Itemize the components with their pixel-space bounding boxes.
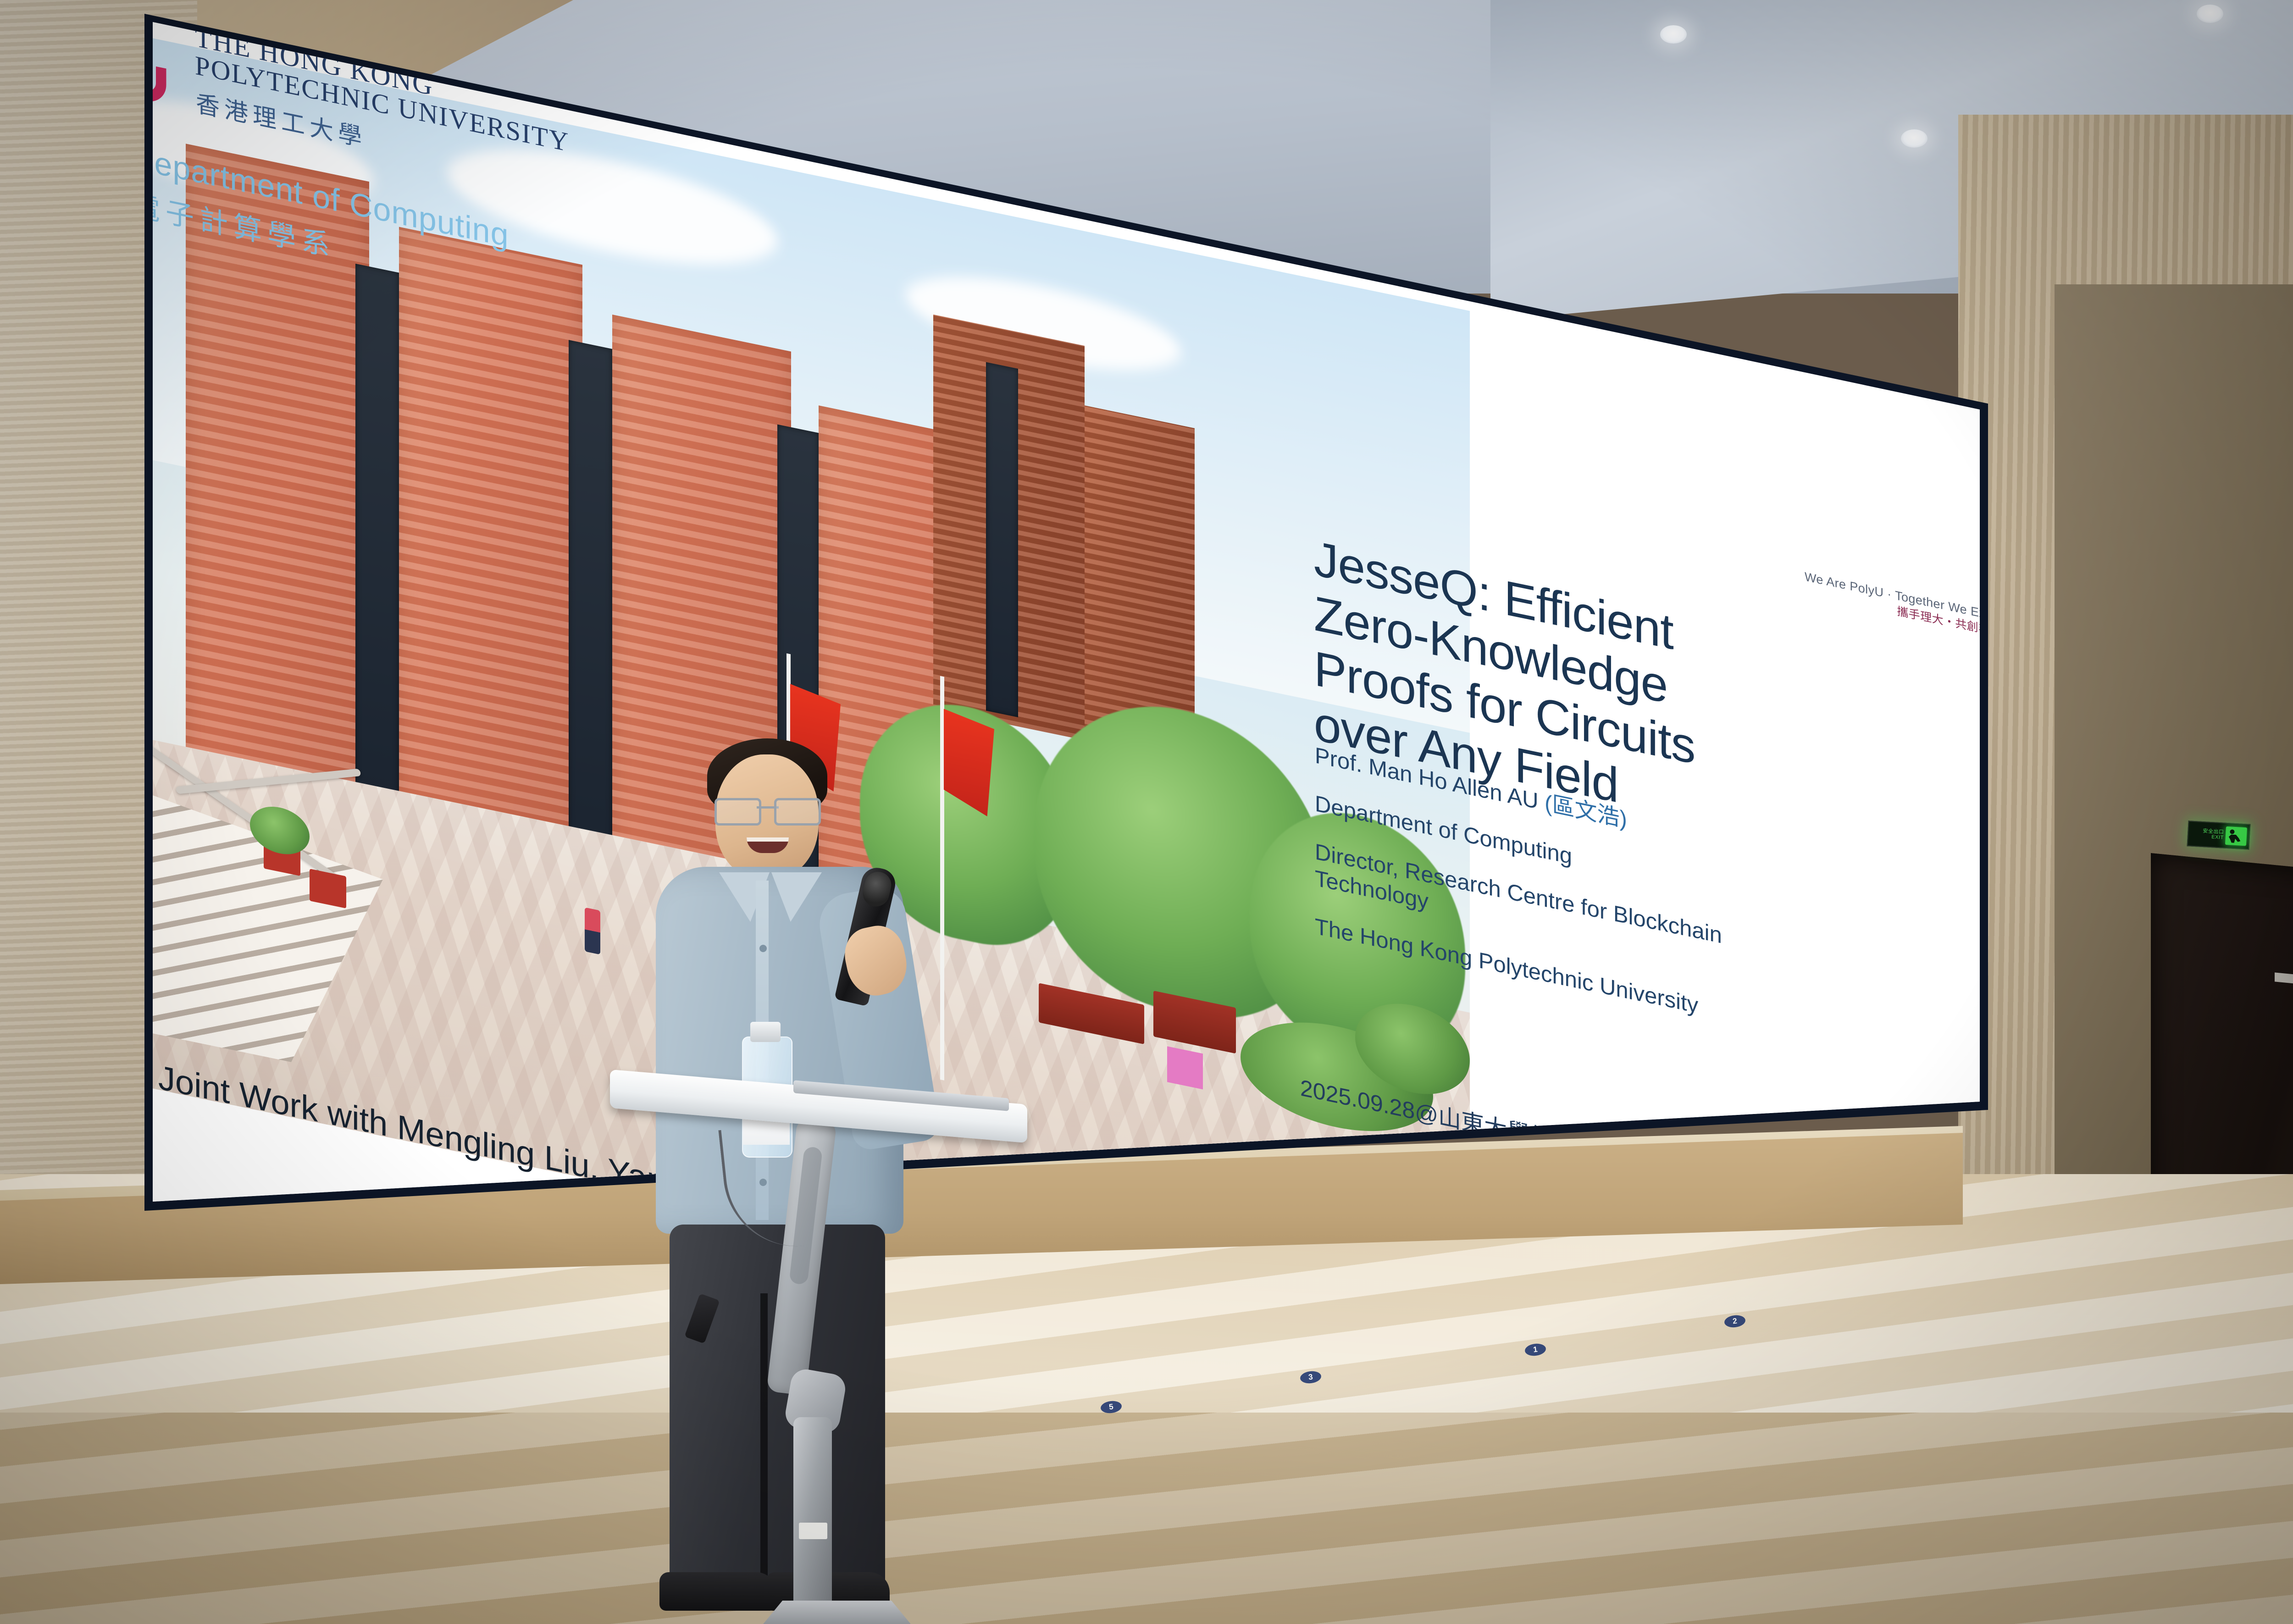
glasses-lens-right [774, 798, 821, 826]
presentation-slide: THE HONG KONG POLYTECHNIC UNIVERSITY 香港理… [103, 0, 1988, 1211]
lower-floor [0, 1413, 2293, 1624]
bottle-cap [750, 1022, 781, 1042]
campus-building [399, 227, 582, 852]
shirt-button [759, 945, 767, 952]
lectern-pole [793, 1417, 832, 1610]
led-video-wall: THE HONG KONG POLYTECHNIC UNIVERSITY 香港理… [103, 0, 1988, 1211]
running-man-icon [2225, 826, 2247, 846]
exit-sign-label: 安全出口 EXIT [2202, 829, 2224, 841]
screen-surface: THE HONG KONG POLYTECHNIC UNIVERSITY 香港理… [103, 0, 1988, 1211]
glasses-lens-left [714, 798, 761, 826]
photo-scene: 安全出口 EXIT 5 3 1 2 [0, 0, 2293, 1624]
ceiling-downlight [2197, 5, 2223, 23]
polyu-tagline: We Are PolyU · Together We Excel 攜手理大・共創… [1805, 568, 1988, 641]
tower-window-strip [986, 362, 1018, 717]
exit-sign: 安全出口 EXIT [2187, 820, 2251, 850]
polyu-knot-logo [103, 0, 174, 109]
lectern-sticker [799, 1523, 827, 1539]
lectern-cable [718, 1121, 816, 1253]
accent-square [1167, 1046, 1203, 1089]
lectern-base [761, 1601, 913, 1624]
speaker-glasses [714, 798, 821, 822]
window-strip [569, 340, 612, 858]
pedestrian [585, 907, 600, 954]
window-strip [355, 264, 399, 807]
lectern-stand [610, 1087, 1069, 1624]
slide-text-panel: We Are PolyU · Together We Excel 攜手理大・共創… [1305, 465, 1988, 1211]
